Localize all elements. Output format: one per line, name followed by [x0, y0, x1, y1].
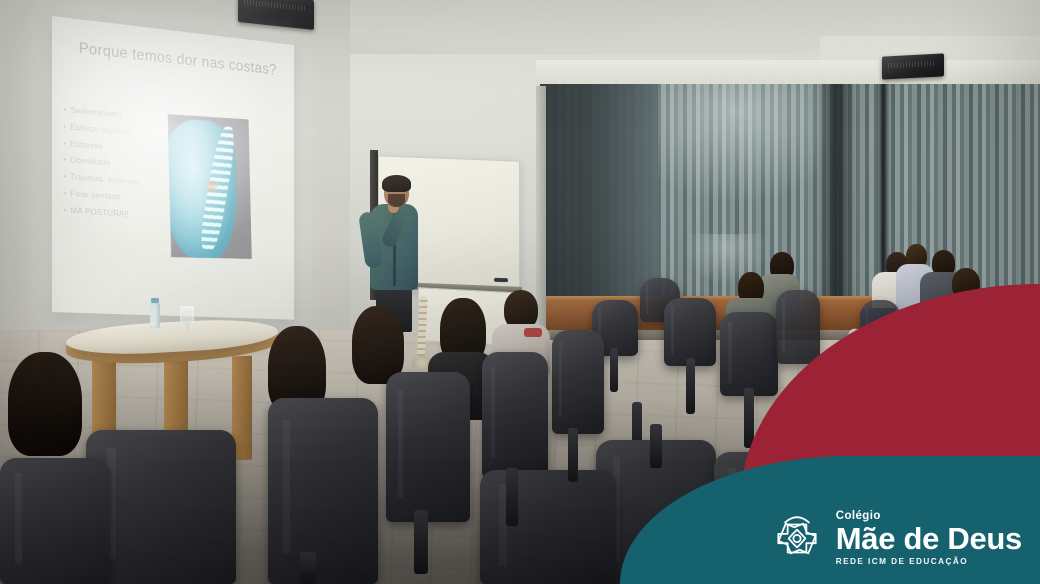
speaker-grill [888, 61, 936, 69]
audience-chair [720, 312, 778, 396]
brand-lockup: Colégio Mãe de Deus REDE ICM DE EDUCAÇÃO [771, 511, 1022, 566]
brand-wordmark: Colégio Mãe de Deus REDE ICM DE EDUCAÇÃO [836, 511, 1022, 566]
photograph: Porque temos dor nas costas? •Sedentaris… [0, 0, 1040, 584]
wall-speaker-right-icon [882, 53, 944, 79]
audience-chair [480, 470, 616, 584]
bullet-marker-icon: • [64, 205, 67, 215]
curtain-shadow-left [540, 84, 658, 306]
speaker-grill [244, 0, 306, 11]
chair-leg [650, 424, 662, 468]
bullet-marker-icon: • [64, 138, 67, 148]
bullet-text: Traumas, [70, 172, 105, 184]
drinking-glass-stem [186, 324, 189, 332]
presenter-beard [388, 194, 405, 207]
audience-chair [0, 458, 110, 584]
audience-chair [664, 298, 716, 366]
audience-chair [776, 290, 820, 364]
bullet-marker-icon: • [64, 171, 67, 181]
chair-leg [686, 358, 695, 414]
audience-student-stripe [524, 328, 542, 337]
slide-title: Porque temos dor nas costas? [79, 39, 286, 81]
chair-leg [414, 510, 428, 574]
soffit [536, 60, 1040, 86]
eight-point-star-rosette-icon [771, 511, 823, 565]
projection-screen: Porque temos dor nas costas? •Sedentaris… [52, 16, 294, 320]
chair-leg [300, 552, 316, 584]
bullet-subtext: Acidentes [107, 175, 138, 186]
audience-chair [386, 372, 470, 522]
bullet-marker-icon: • [64, 188, 67, 198]
audience-chair [482, 352, 548, 478]
bullet-marker-icon: • [64, 104, 67, 114]
presenter-hair [382, 175, 411, 192]
bullet-text: Sedentarismo [70, 105, 121, 120]
bullet-text: MÁ POSTURA!! [70, 205, 129, 219]
water-bottle [150, 302, 160, 328]
chair-leg [610, 348, 618, 392]
bullet-subtext: repetitivo [101, 125, 130, 136]
chair-leg [506, 468, 518, 526]
bullet-text: Estresse [70, 138, 102, 151]
audience-chair [552, 330, 604, 434]
slide-bullet-list: •Sedentarismo •Esforço repetitivo •Estre… [64, 101, 182, 225]
audience-chair [268, 398, 378, 584]
audience-student [8, 352, 82, 456]
bullet-marker-icon: • [64, 121, 67, 131]
bullet-text: Esforço [70, 121, 98, 133]
spine-pain-highlight [205, 178, 219, 196]
stage-column [536, 86, 546, 334]
bullet-marker-icon: • [64, 154, 67, 164]
chair-leg [568, 428, 578, 482]
whiteboard-marker [494, 278, 508, 282]
curtain-shadow-right [816, 84, 860, 306]
brand-tagline: REDE ICM DE EDUCAÇÃO [836, 558, 1022, 566]
brand-name: Mãe de Deus [836, 524, 1022, 554]
bullet-text: Ficar sentado [70, 188, 120, 201]
bullet-text: Obesidade [70, 155, 110, 168]
water-bottle-cap [151, 298, 159, 303]
